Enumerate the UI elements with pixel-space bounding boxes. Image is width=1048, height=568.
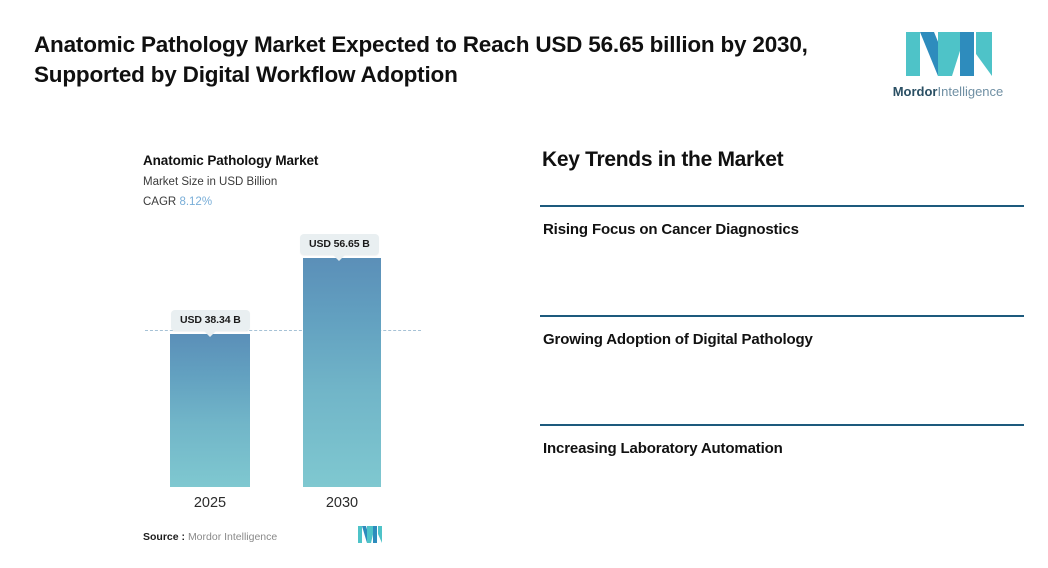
page-title: Anatomic Pathology Market Expected to Re… [34,30,854,90]
trend-divider [540,315,1024,317]
source-value: Mordor Intelligence [188,531,277,543]
x-axis-label-2025: 2025 [170,495,250,511]
trends-heading: Key Trends in the Market [542,148,783,172]
chart-panel: Anatomic Pathology Market Market Size in… [0,140,500,560]
trend-item-2[interactable]: Growing Adoption of Digital Pathology [540,315,1024,348]
x-axis-label-2030: 2030 [303,495,381,511]
mordor-intelligence-mark-icon [358,526,382,543]
trend-divider [540,424,1024,426]
trend-item-1[interactable]: Rising Focus on Cancer Diagnostics [540,205,1024,238]
bar-2025 [170,334,250,487]
header: Anatomic Pathology Market Expected to Re… [0,0,1048,120]
brand-wordmark: MordorIntelligence [878,84,1018,99]
source-line: Source : Mordor Intelligence [143,531,277,543]
bar-chart-plot: USD 38.34 B USD 56.65 B 2025 2030 [0,140,500,560]
brand-word-secondary: Intelligence [938,84,1004,99]
infographic-page: Anatomic Pathology Market Expected to Re… [0,0,1048,568]
bar-value-label-2030: USD 56.65 B [300,234,379,255]
mordor-intelligence-logo-icon [906,28,992,80]
trend-label: Increasing Laboratory Automation [543,440,1024,457]
key-trends-panel: Key Trends in the Market Rising Focus on… [540,148,1024,478]
brand-word-primary: Mordor [893,84,938,99]
trend-item-3[interactable]: Increasing Laboratory Automation [540,424,1024,457]
trend-divider [540,205,1024,207]
bar-value-label-2025: USD 38.34 B [171,310,250,331]
source-label: Source : [143,531,185,543]
bar-2030 [303,258,381,487]
trend-label: Rising Focus on Cancer Diagnostics [543,221,1024,238]
trend-label: Growing Adoption of Digital Pathology [543,331,1024,348]
brand-logo: MordorIntelligence [878,28,1018,108]
